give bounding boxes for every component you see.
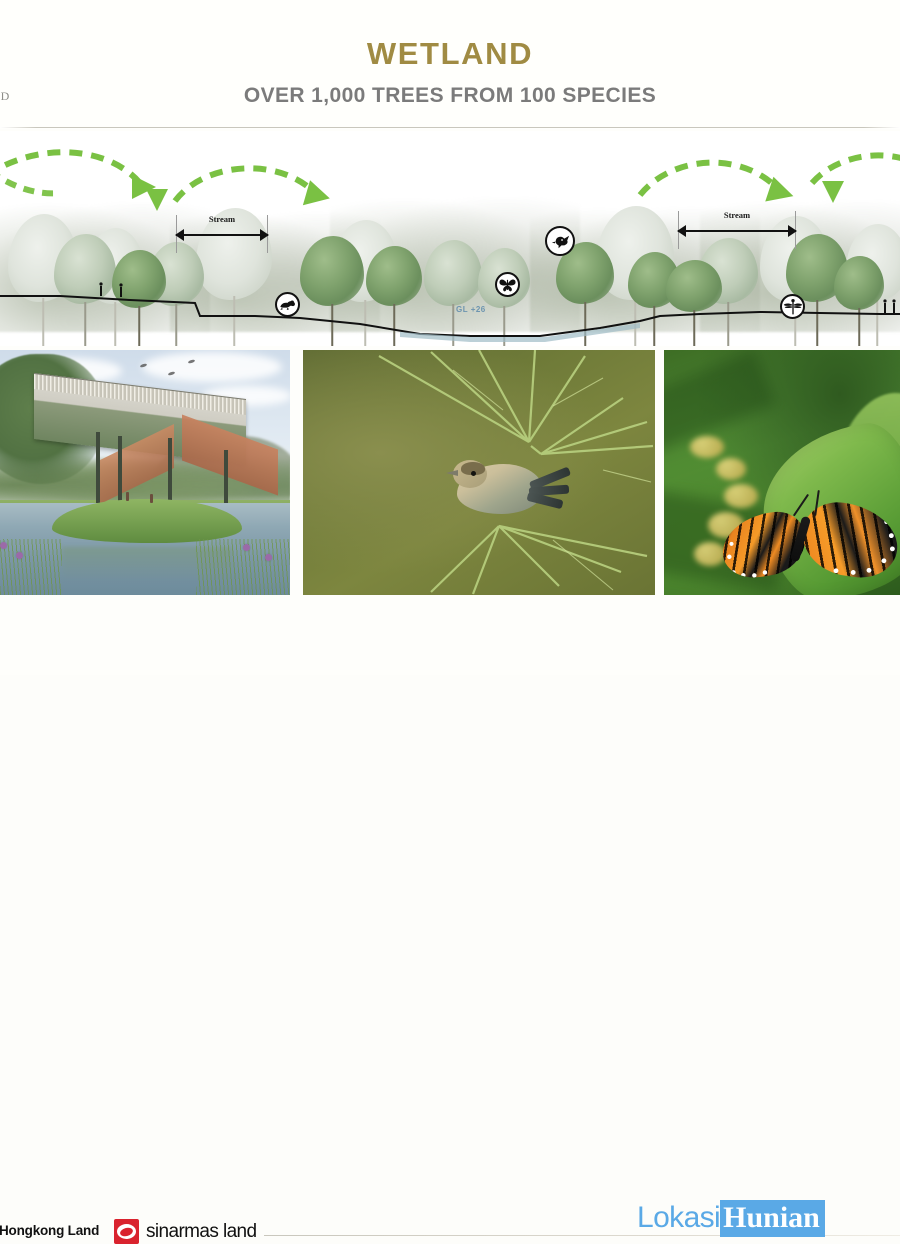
visitor-figure xyxy=(150,494,153,503)
wetland-landscape-section: Stream Stream GL +26 xyxy=(0,131,900,346)
cloud xyxy=(142,352,282,382)
frog-icon xyxy=(278,295,297,314)
photo-wetland-viewing-platform xyxy=(0,350,290,595)
butterfly-icon xyxy=(498,275,517,294)
dimension-bar xyxy=(678,230,796,232)
photo-monarch-butterfly xyxy=(664,350,900,595)
elevation-note: GL +26 xyxy=(456,305,486,314)
arrowhead-left-icon xyxy=(175,229,184,241)
photo-strip xyxy=(0,350,900,595)
watermark-part-b: Hunian xyxy=(720,1200,825,1237)
butterfly-subject xyxy=(718,492,900,584)
slide-header: TH RIGOLD WETLAND OVER 1,000 TREES FROM … xyxy=(0,0,900,129)
bird-badge xyxy=(545,226,575,256)
bird-icon xyxy=(549,230,572,253)
stream-label: Stream xyxy=(678,210,796,220)
partner-hongkong-land: Hongkong Land xyxy=(0,1220,99,1240)
dragonfly-badge xyxy=(780,294,805,319)
slide-canvas: TH RIGOLD WETLAND OVER 1,000 TREES FROM … xyxy=(0,0,900,675)
ground-profile xyxy=(0,266,900,346)
butterfly-wing-right xyxy=(797,498,900,583)
flower-bud xyxy=(716,458,746,480)
slide-footer: Hongkong Land sinarmas land Lokasi Hunia… xyxy=(0,595,900,675)
butterfly-antenna xyxy=(793,494,809,516)
watermark: Lokasi Hunian xyxy=(637,1200,825,1237)
dragonfly-icon xyxy=(783,297,803,317)
arrowhead-right-icon xyxy=(260,229,269,241)
wing-spots xyxy=(797,498,900,583)
arrowhead-left-icon xyxy=(677,225,686,237)
visitor-figure xyxy=(126,492,129,501)
watermark-part-a: Lokasi xyxy=(637,1201,720,1235)
hongkong-land-label: Hongkong Land xyxy=(0,1223,99,1238)
bird-eye xyxy=(471,471,476,476)
stream-dimension-left: Stream xyxy=(176,225,268,243)
stream-label: Stream xyxy=(176,214,268,224)
sinarmas-land-logo-icon xyxy=(114,1219,139,1244)
photo-wetland-bird xyxy=(303,350,655,595)
header-divider xyxy=(0,127,900,128)
reed-planting xyxy=(0,539,62,595)
page-title: WETLAND xyxy=(0,36,900,72)
page-subtitle: OVER 1,000 TREES FROM 100 SPECIES xyxy=(0,84,900,108)
flowering-plant xyxy=(0,542,7,549)
partner-sinarmas-land: sinarmas land xyxy=(114,1219,256,1244)
flower-bud xyxy=(690,436,724,458)
arrowhead-right-icon xyxy=(788,225,797,237)
sinarmas-land-label: sinarmas land xyxy=(146,1221,256,1243)
dimension-bar xyxy=(176,234,268,236)
flowering-plant xyxy=(16,552,23,559)
frog-badge xyxy=(275,292,300,317)
bird-tail xyxy=(529,474,571,508)
stream-dimension-right: Stream xyxy=(678,221,796,239)
flowering-plant xyxy=(243,544,250,551)
flowering-plant xyxy=(265,554,272,561)
bird-head xyxy=(453,460,487,488)
bird-subject xyxy=(453,456,569,522)
butterfly-badge xyxy=(495,272,520,297)
